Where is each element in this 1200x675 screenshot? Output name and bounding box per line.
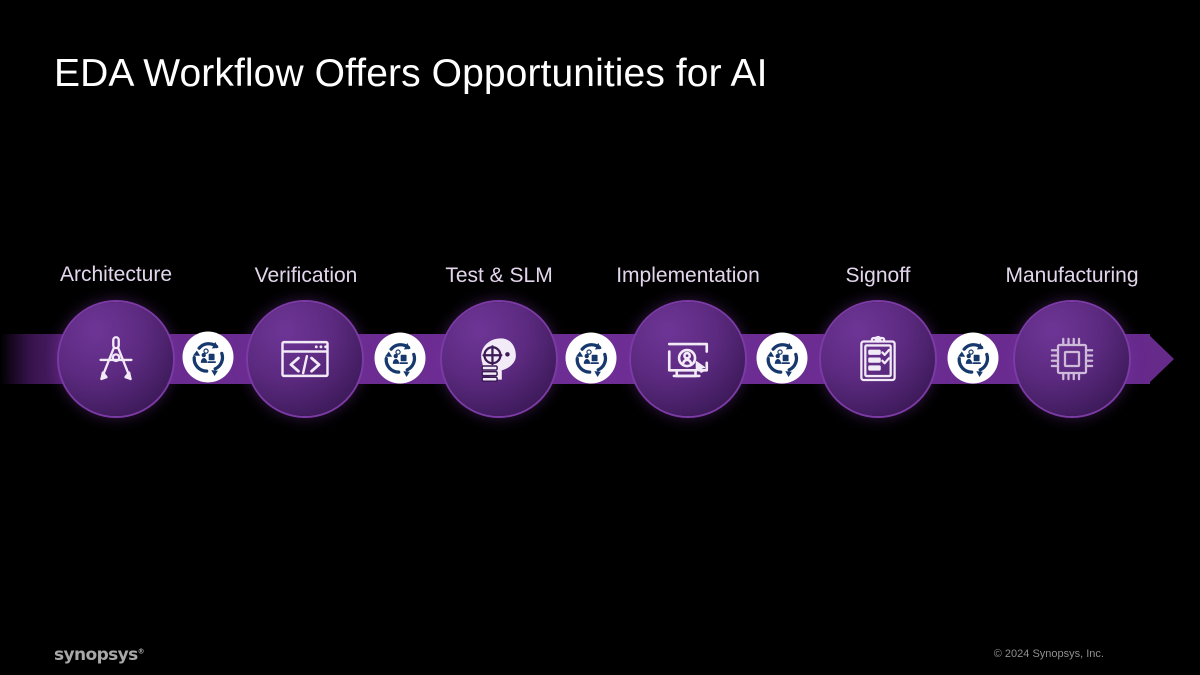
stage-node-test-slm[interactable] xyxy=(442,302,556,416)
compass-icon xyxy=(87,330,145,388)
slide-canvas: EDA Workflow Offers Opportunities for AI… xyxy=(0,0,1200,675)
stage-label-implementation: Implementation xyxy=(616,264,760,288)
ai-badge-5[interactable] xyxy=(949,334,997,382)
stage-label-architecture: Architecture xyxy=(60,263,172,287)
stage-node-verification[interactable] xyxy=(248,302,362,416)
ai-badge-1[interactable] xyxy=(184,333,232,381)
page-title: EDA Workflow Offers Opportunities for AI xyxy=(54,52,768,96)
synopsys-logo-text: synopsys xyxy=(54,645,138,665)
workflow-band-arrowhead xyxy=(1148,334,1174,384)
stage-label-verification: Verification xyxy=(255,264,358,288)
code-window-icon xyxy=(275,329,335,389)
stage-node-signoff[interactable] xyxy=(821,302,935,416)
stage-node-architecture[interactable] xyxy=(59,302,173,416)
registered-mark: ® xyxy=(138,647,144,655)
ai-recycle-person-icon xyxy=(761,337,803,379)
ai-recycle-person-icon xyxy=(952,337,994,379)
ai-recycle-person-icon xyxy=(187,336,229,378)
ai-badge-2[interactable] xyxy=(376,334,424,382)
stage-label-test-slm: Test & SLM xyxy=(445,264,552,288)
clipboard-check-icon xyxy=(850,331,906,387)
chip-icon xyxy=(1044,331,1100,387)
monitor-user-icon xyxy=(658,329,718,389)
ai-badge-4[interactable] xyxy=(758,334,806,382)
ai-badge-3[interactable] xyxy=(567,334,615,382)
stage-label-signoff: Signoff xyxy=(846,264,911,288)
stage-label-manufacturing: Manufacturing xyxy=(1005,264,1138,288)
ai-recycle-person-icon xyxy=(379,337,421,379)
stage-node-implementation[interactable] xyxy=(631,302,745,416)
synopsys-logo: synopsys® xyxy=(54,645,144,665)
stage-node-manufacturing[interactable] xyxy=(1015,302,1129,416)
head-target-icon xyxy=(469,329,529,389)
copyright-notice: © 2024 Synopsys, Inc. xyxy=(994,648,1104,660)
ai-recycle-person-icon xyxy=(570,337,612,379)
